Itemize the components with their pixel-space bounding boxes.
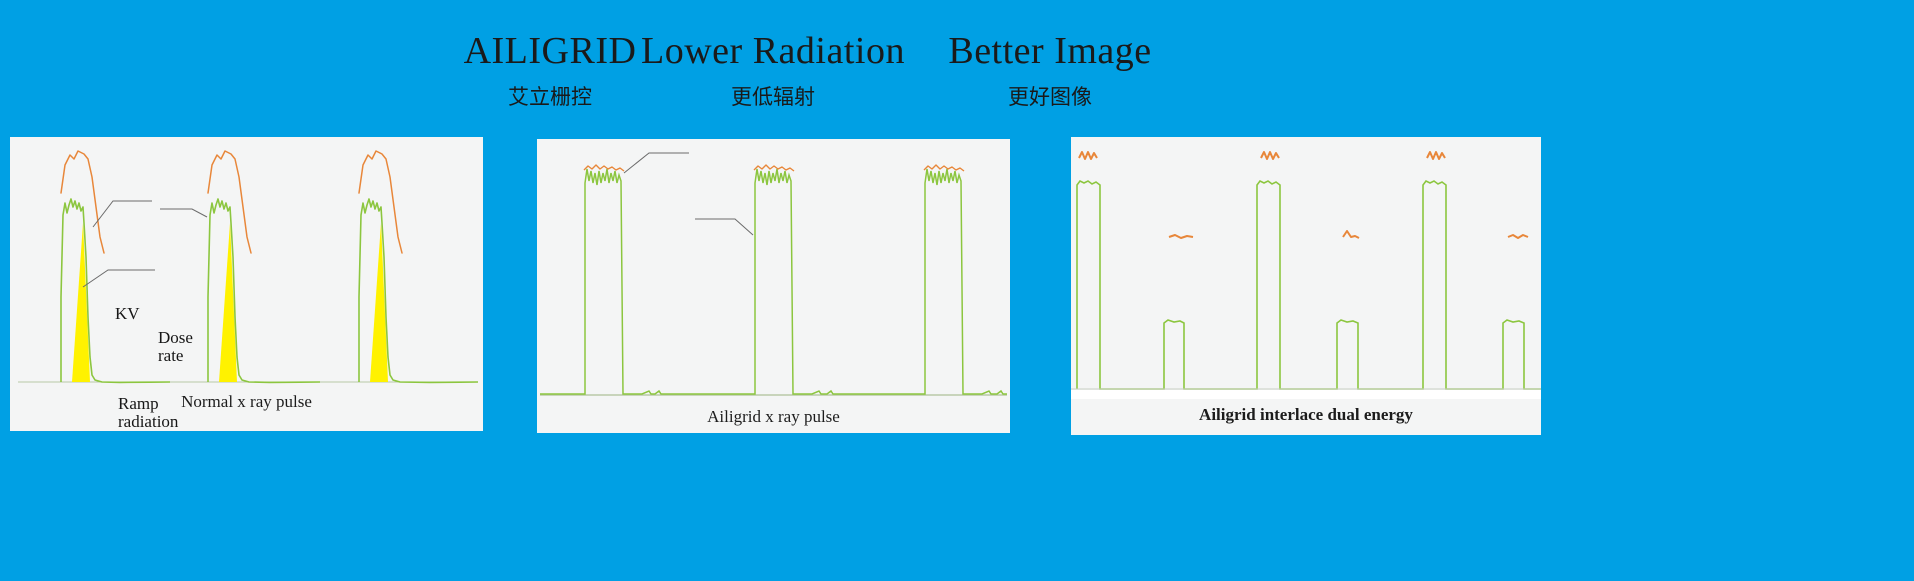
panel-caption-interlace: Ailigrid interlace dual energy (1071, 405, 1541, 425)
axis-strip (1071, 390, 1541, 399)
pulse-group-1 (540, 165, 697, 394)
header-title-cn-1: 更低辐射 (628, 87, 918, 108)
pulse-group-3 (877, 165, 1007, 394)
dose-rate-square-3 (877, 169, 1007, 394)
leader-line-dose-rate (695, 219, 753, 235)
chart-ailigrid-interlace-dual-energy (1071, 137, 1541, 399)
leader-line-dose-rate (160, 209, 207, 217)
pulse-group-1 (61, 151, 170, 382)
dose-rate-square-1 (540, 169, 697, 394)
chart-ailigrid-x-ray-pulse (537, 139, 1010, 401)
chart-panel-normal-x-ray-pulse: KV Dose rate Ramp radiation Normal x ray… (10, 137, 483, 431)
kv-cap-1 (584, 165, 624, 171)
header-column-better-image: Better Image 更好图像 (920, 32, 1180, 108)
pulse-group-2 (697, 165, 877, 394)
dose-rate-square-2 (697, 169, 877, 394)
header-title-en-2: Better Image (920, 32, 1180, 70)
header-title-en-1: Lower Radiation (628, 32, 918, 70)
header-title-cn-2: 更好图像 (920, 87, 1180, 108)
chart-panel-ailigrid-x-ray-pulse: KV Dose rate Ailigrid x ray pulse (537, 139, 1010, 433)
pulse-group-3 (359, 151, 478, 382)
chart-normal-x-ray-pulse (10, 137, 483, 387)
kv-cap-2 (754, 165, 794, 171)
leader-line-ramp-radiation (83, 270, 155, 287)
leader-line-kv (624, 153, 689, 173)
header-column-lower-radiation: Lower Radiation 更低辐射 (628, 32, 918, 108)
panel-caption-ailigrid: Ailigrid x ray pulse (537, 407, 1010, 427)
kv-cap-3 (924, 165, 964, 171)
plot-background (1071, 137, 1541, 399)
panel-caption-normal: Normal x ray pulse (10, 392, 483, 412)
chart-panel-ailigrid-interlace-dual-energy: 120kv 80kv /s 0 Ailigrid interlace dual … (1071, 137, 1541, 435)
header-banner: AILIGRID 艾立栅控 Lower Radiation 更低辐射 Bette… (0, 0, 1914, 160)
leader-line-kv (93, 201, 152, 227)
pulse-group-2 (208, 151, 320, 382)
